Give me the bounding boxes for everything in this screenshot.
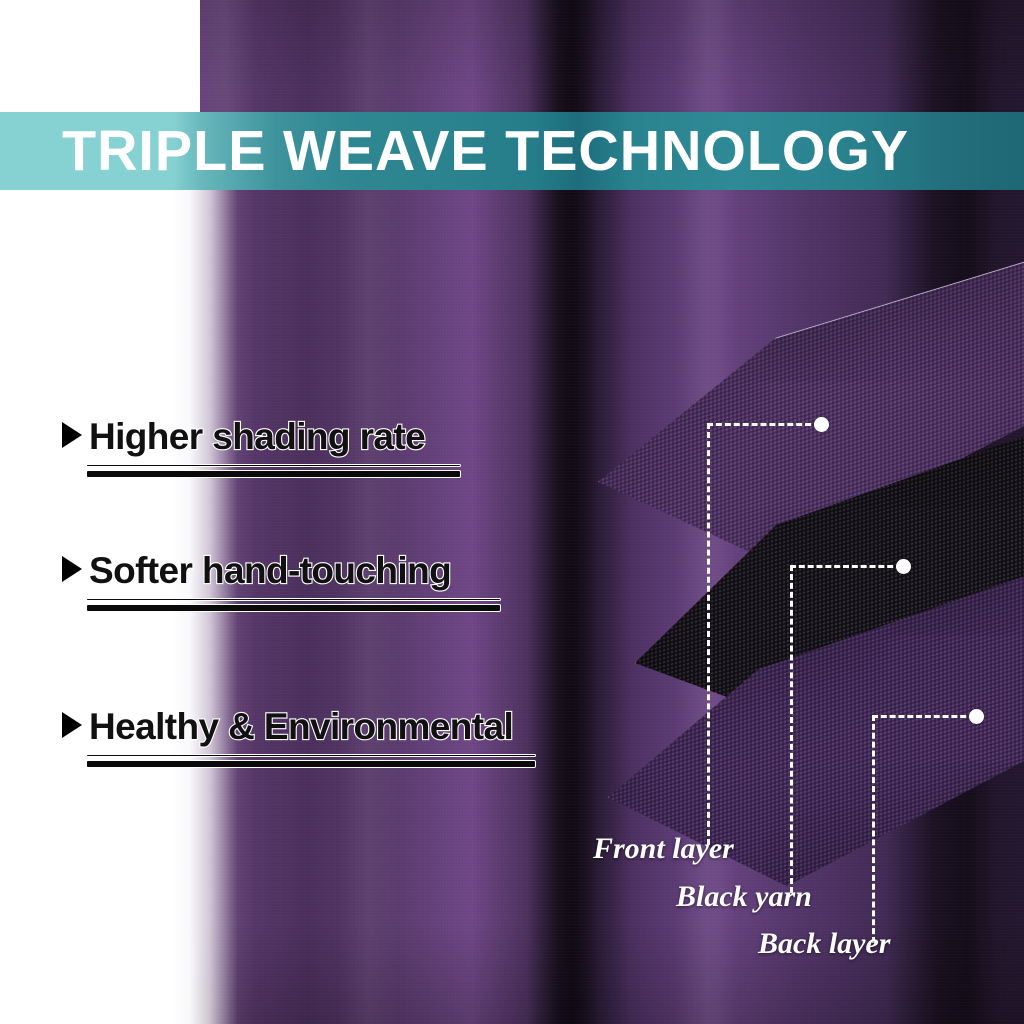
page-title: TRIPLE WEAVE TECHNOLOGY — [62, 123, 909, 180]
triangle-right-icon — [62, 712, 82, 738]
leader-segment-horizontal — [872, 715, 975, 718]
diagram-caption-black-yarn: Black yarn — [676, 880, 812, 914]
feature-underline — [86, 598, 501, 612]
underline-thin-rule — [86, 598, 501, 601]
triangle-right-icon — [62, 556, 82, 582]
feature-label: Healthy & Environmental — [89, 708, 513, 746]
feature-row: Softer hand-touching — [62, 552, 501, 590]
feature-underline — [86, 464, 461, 478]
diagram-caption-back-layer: Back layer — [758, 927, 890, 961]
underline-thick-rule — [86, 760, 536, 768]
feature-row: Higher shading rate — [62, 418, 461, 456]
underline-thick-rule — [86, 470, 461, 478]
feature-label: Softer hand-touching — [89, 552, 451, 590]
feature-row: Healthy & Environmental — [62, 708, 536, 746]
leader-segment-vertical — [872, 715, 875, 943]
title-banner: TRIPLE WEAVE TECHNOLOGY — [0, 112, 1024, 190]
feature-label: Higher shading rate — [89, 418, 425, 456]
leader-endpoint-dot — [969, 709, 984, 724]
feature-underline — [86, 754, 536, 768]
feature-item-higher-shading-rate: Higher shading rate — [62, 418, 461, 478]
underline-thin-rule — [86, 754, 536, 757]
feature-item-softer-hand-touching: Softer hand-touching — [62, 552, 501, 612]
underline-thick-rule — [86, 604, 501, 612]
fabric-layer-diagram — [580, 320, 1024, 880]
leader-segment-vertical — [707, 423, 710, 845]
leader-endpoint-dot — [814, 417, 829, 432]
infographic-canvas: TRIPLE WEAVE TECHNOLOGY Higher shading r… — [0, 0, 1024, 1024]
feature-item-healthy-environmental: Healthy & Environmental — [62, 708, 536, 768]
leader-endpoint-dot — [896, 559, 911, 574]
diagram-caption-front-layer: Front layer — [593, 832, 734, 866]
leader-segment-horizontal — [790, 565, 902, 568]
leader-segment-horizontal — [707, 423, 820, 426]
underline-thin-rule — [86, 464, 461, 467]
leader-segment-vertical — [790, 565, 793, 893]
triangle-right-icon — [62, 422, 82, 448]
